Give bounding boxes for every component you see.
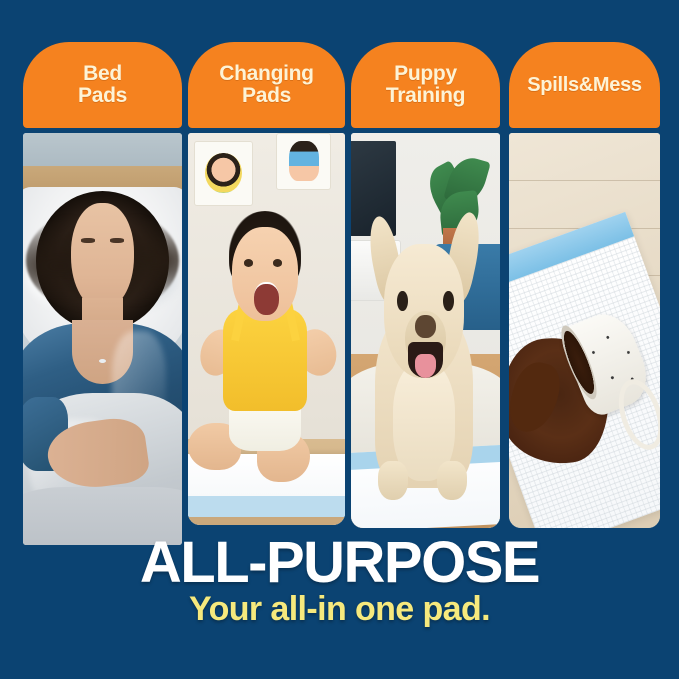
panel-photo-puppy-training [351,133,500,528]
panel-label-line: Bed [83,62,122,85]
infographic-canvas: Bed Pads Changing Pads [0,0,679,679]
panel-photo-spills-and-mess [509,133,660,528]
panel-bed-pads: Bed Pads [23,42,182,128]
panel-label-line: Pads [242,84,291,107]
panel-badge-spills-and-mess: Spills&Mess [509,42,660,128]
panel-label-line: Changing [219,62,313,85]
panel-spills-and-mess: Spills&Mess [509,42,660,128]
panel-label-line: Puppy [394,62,457,85]
panel-badge-puppy-training: Puppy Training [351,42,500,128]
panel-changing-pads: Changing Pads [188,42,345,128]
panel-photo-changing-pads [188,133,345,525]
panel-badge-changing-pads: Changing Pads [188,42,345,128]
page-subheadline: Your all-in one pad. [0,592,679,626]
panel-badge-bed-pads: Bed Pads [23,42,182,128]
panel-puppy-training: Puppy Training [351,42,500,128]
panel-label-line: Spills&Mess [527,74,642,96]
panel-label-line: Training [386,84,465,107]
panel-photo-bed-pads [23,133,182,545]
page-headline: ALL-PURPOSE [0,534,679,592]
panel-label-line: Pads [78,84,127,107]
